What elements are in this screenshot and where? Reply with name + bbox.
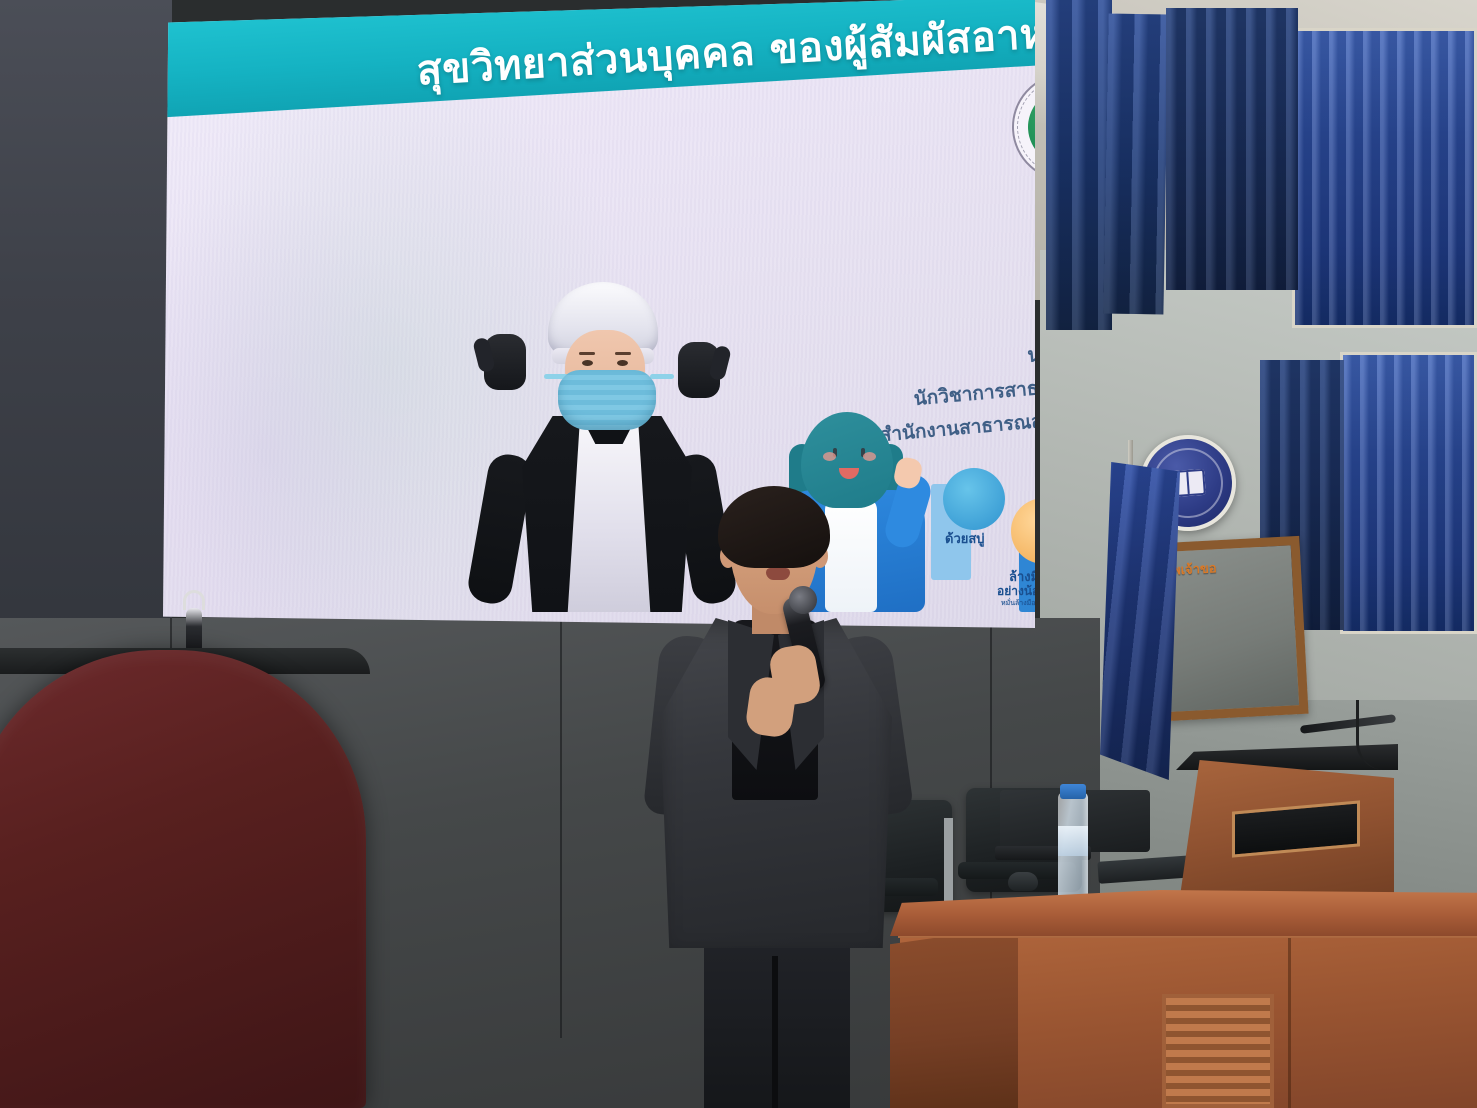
chef-apron (566, 422, 652, 612)
curtain-mid (1166, 8, 1298, 290)
presenter-leg-gap (772, 956, 778, 1108)
computer-mouse[interactable] (1008, 872, 1038, 891)
info-label-soap: ด้วยสบู่ (945, 528, 985, 549)
desk-top (890, 890, 1477, 936)
presenter-person (646, 486, 906, 1108)
podium-mic-arm (183, 590, 205, 610)
chef-brow-right (615, 352, 631, 355)
public-health-seal: ⚕ (1009, 70, 1035, 184)
wall-seam-1 (560, 618, 562, 1038)
institutional-flag (1100, 462, 1180, 780)
desk-side (890, 926, 1018, 1108)
handwash-infographic: ด้วยสบู่ ล้างมือนาน อย่างน้อย 20 วินาที … (923, 466, 1035, 626)
window-upper (1292, 28, 1477, 328)
curtain-lower (1343, 355, 1474, 631)
lecture-hall-photo: สุขวิทยาส่วนบุคคล ของผู้สัมผัสอาหาร ⚕ (0, 0, 1477, 1108)
desk-panel-seam (1288, 936, 1291, 1108)
chef-brow-left (579, 352, 595, 355)
curtain-left-panel (1046, 0, 1112, 330)
curtain-left-panel-2 (1103, 13, 1168, 314)
surgical-mask-icon (558, 370, 656, 430)
lady-cheek-left (823, 452, 836, 461)
left-wall (0, 0, 172, 640)
presenter-mouth (766, 568, 790, 580)
bottle-cap (1060, 784, 1086, 799)
chef-glove-left (484, 334, 526, 390)
info-label-handwash-3: หมั่นล้างมือ ป้องกัน โรคติดต่อ (1001, 598, 1035, 609)
chef-eye-right (617, 360, 628, 366)
mask-strap-right (650, 374, 674, 379)
curtain-upper (1295, 31, 1474, 325)
info-circle-handwash (1011, 498, 1035, 564)
lectern-podium: R (0, 650, 366, 1108)
glove-thumb-left (472, 337, 496, 374)
bottle-label (1058, 826, 1088, 856)
seal-ring (1014, 75, 1035, 179)
desk-louver-panel (1162, 994, 1274, 1108)
info-circle-soap (943, 468, 1005, 530)
lady-cheek-right (863, 452, 876, 461)
chef-eye-left (582, 360, 593, 366)
glove-thumb-right (708, 345, 732, 382)
window-lower (1340, 352, 1477, 634)
chef-glove-right (678, 342, 720, 398)
presenter-hair (718, 486, 830, 568)
presenter-desk (890, 890, 1477, 1108)
